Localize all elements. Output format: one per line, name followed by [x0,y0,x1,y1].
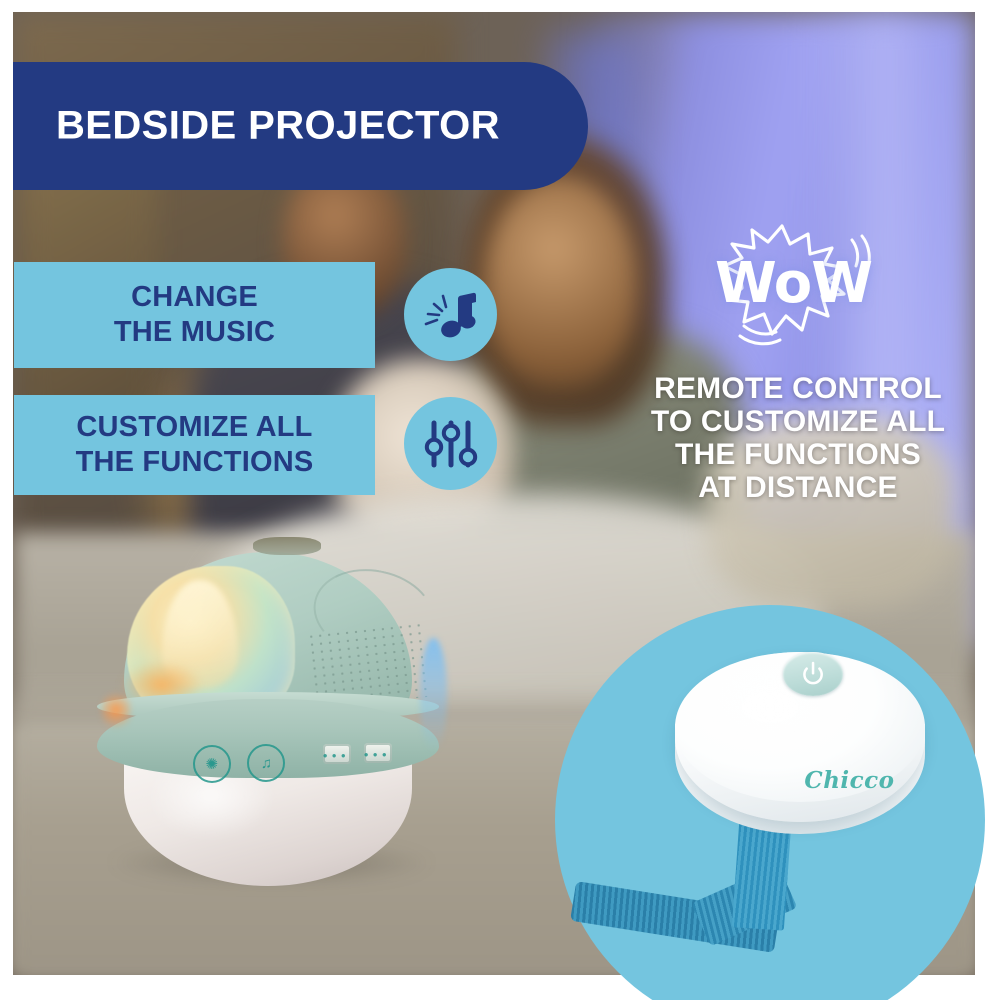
copy-line-3: THE FUNCTIONS [612,438,984,471]
wow-badge: WoW [706,222,881,347]
feature-line-1: CHANGE [131,281,258,313]
feature-text: CHANGE THE MUSIC [114,280,275,351]
projector-orange-rim-light [101,688,131,731]
chicco-brand-logo: Chicco [804,767,894,794]
feature-callout-customize-all-the-functions: CUSTOMIZE ALL THE FUNCTIONS [14,395,375,495]
page-title: BEDSIDE PROJECTOR [56,104,500,149]
projector-switch-label-left: ● ● ● [323,751,347,760]
music-note-icon-badge [404,268,497,361]
background-mother-head [484,176,638,388]
copy-line-1: REMOTE CONTROL [612,372,984,405]
feature-line-2: THE FUNCTIONS [76,446,314,478]
equalizer-sliders-icon [421,414,481,474]
projector-control-band: ✺ ♫ ● ● ● ● ● ● [97,699,439,778]
wow-label: WoW [706,256,881,312]
remote-control-product-photo: Chicco [555,605,985,1000]
feature-text: CUSTOMIZE ALL THE FUNCTIONS [76,410,314,481]
feature-callout-change-the-music: CHANGE THE MUSIC [14,262,375,368]
projector-top-port [253,537,321,555]
projector-sound-icon[interactable]: ♫ [247,744,285,782]
copy-line-2: TO CUSTOMIZE ALL [612,405,984,438]
power-icon [798,660,828,688]
feature-line-2: THE MUSIC [114,316,275,348]
projector-product-photo: ✺ ♫ ● ● ● ● ● ● [78,530,458,890]
header-banner: BEDSIDE PROJECTOR [13,62,588,190]
copy-line-4: AT DISTANCE [612,471,984,504]
projector-blue-rim-light [420,638,447,753]
remote-control-marketing-copy: REMOTE CONTROL TO CUSTOMIZE ALL THE FUNC… [612,372,984,504]
infographic-canvas: BEDSIDE PROJECTOR CHANGE THE MUSIC CUST [0,0,1000,1000]
projector-light-icon[interactable]: ✺ [193,745,231,783]
equalizer-sliders-icon-badge [404,397,497,490]
feature-line-1: CUSTOMIZE ALL [76,411,312,443]
projector-switch-label-right: ● ● ● [364,750,388,759]
music-note-icon [420,284,482,346]
